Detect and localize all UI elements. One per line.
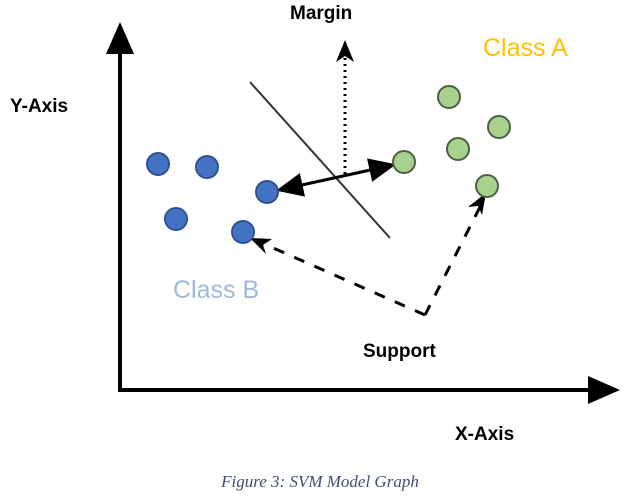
figure-caption: Figure 3: SVM Model Graph xyxy=(220,472,419,491)
data-point-class-b[interactable] xyxy=(196,156,218,178)
x-axis-label: X-Axis xyxy=(455,424,514,445)
data-point-class-b[interactable] xyxy=(165,208,187,230)
y-axis-label: Y-Axis xyxy=(10,96,68,117)
data-point-class-b-support-vector[interactable] xyxy=(256,181,278,203)
data-point-class-a[interactable] xyxy=(438,86,460,108)
margin-double-arrow xyxy=(279,165,393,190)
support-pointer-class-a xyxy=(425,205,481,315)
class-b-label: Class B xyxy=(173,276,259,304)
data-point-class-a-support-vector[interactable] xyxy=(476,175,498,197)
class-a-label: Class A xyxy=(483,34,568,62)
figure-root: Y-Axis X-Axis Margi xyxy=(0,0,640,500)
data-point-class-a[interactable] xyxy=(488,116,510,138)
svm-model-graph: Y-Axis X-Axis Margi xyxy=(0,0,640,500)
data-point-class-a[interactable] xyxy=(447,138,469,160)
data-point-class-b-support-vector[interactable] xyxy=(232,221,254,243)
support-pointer-class-b xyxy=(262,243,425,315)
class-a-points-group xyxy=(393,86,510,197)
support-pointer-class-b-head xyxy=(250,238,272,254)
axes-group xyxy=(118,26,616,392)
class-b-points-group xyxy=(147,153,278,243)
data-point-class-a-support-vector[interactable] xyxy=(393,151,415,173)
data-point-class-b[interactable] xyxy=(147,153,169,175)
separating-hyperplane-line xyxy=(250,82,390,238)
margin-label: Margin xyxy=(290,3,352,24)
support-label: Support xyxy=(363,341,436,362)
